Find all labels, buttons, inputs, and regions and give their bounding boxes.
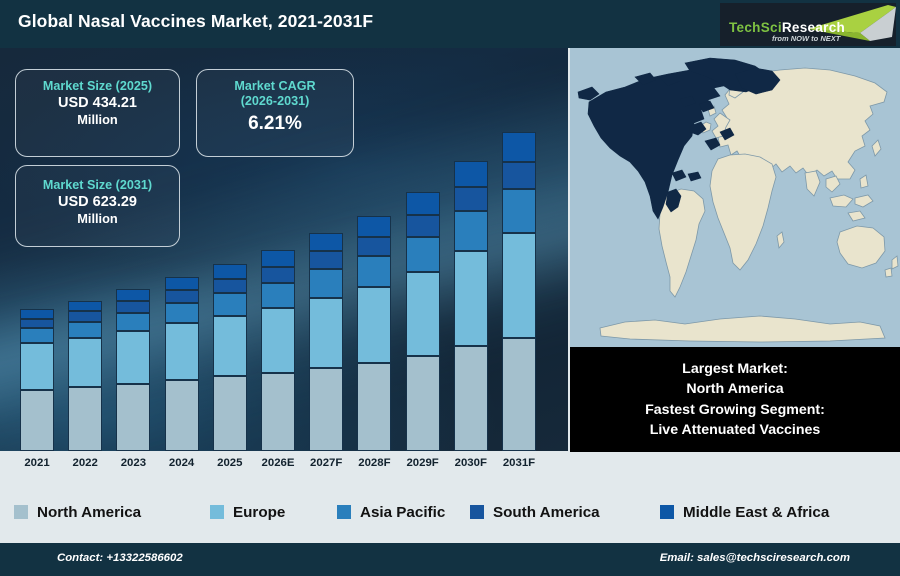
bar-segment-asia-pacific	[213, 293, 247, 316]
bar-segment-south-america	[502, 162, 536, 188]
market-cagr-period: (2026-2031)	[197, 94, 353, 109]
bar-2030F	[454, 161, 488, 451]
bar-segment-north-america	[502, 338, 536, 451]
world-map-svg	[570, 48, 900, 347]
bar-segment-europe	[357, 287, 391, 363]
bar-segment-middle-east-africa	[406, 192, 440, 215]
bar-segment-middle-east-africa	[20, 309, 54, 319]
bar-segment-south-america	[261, 267, 295, 283]
footer-contact: Contact: +13322586602	[57, 552, 183, 564]
bar-segment-europe	[68, 338, 102, 387]
bar-segment-north-america	[454, 346, 488, 451]
bar-segment-middle-east-africa	[357, 216, 391, 236]
bar-segment-south-america	[116, 301, 150, 313]
bar-segment-north-america	[309, 368, 343, 451]
bar-segment-asia-pacific	[357, 256, 391, 287]
bar-segment-europe	[116, 331, 150, 384]
bar-segment-europe	[20, 343, 54, 390]
logo-name-techsci: TechSci	[729, 20, 782, 35]
bar-segment-asia-pacific	[20, 328, 54, 342]
techsci-research-logo: TechSciResearch from NOW to NEXT	[720, 3, 896, 46]
bar-segment-asia-pacific	[309, 269, 343, 298]
x-tick-2031F: 2031F	[491, 457, 547, 469]
bar-segment-asia-pacific	[116, 313, 150, 331]
legend-label: South America	[493, 504, 600, 521]
bar-2026E	[261, 250, 295, 451]
market-size-2025-card: Market Size (2025) USD 434.21 Million	[15, 69, 180, 157]
bar-segment-north-america	[20, 390, 54, 451]
bar-segment-europe	[406, 272, 440, 356]
legend-swatch-icon	[14, 505, 28, 519]
bar-segment-south-america	[165, 290, 199, 303]
fastest-growing-segment-label: Fastest Growing Segment:	[645, 400, 825, 420]
bar-segment-middle-east-africa	[116, 289, 150, 301]
market-size-2025-value: USD 434.21	[16, 94, 179, 112]
bar-segment-south-america	[406, 215, 440, 237]
bar-segment-asia-pacific	[406, 237, 440, 272]
bar-segment-north-america	[165, 380, 199, 451]
legend-swatch-icon	[470, 505, 484, 519]
bar-2031F	[502, 132, 536, 451]
bar-segment-south-america	[454, 187, 488, 211]
bar-segment-south-america	[357, 237, 391, 256]
logo-tagline: from NOW to NEXT	[772, 34, 840, 43]
largest-market-value: North America	[686, 379, 783, 399]
bar-segment-middle-east-africa	[454, 161, 488, 187]
page-title: Global Nasal Vaccines Market, 2021-2031F	[18, 11, 373, 32]
bar-segment-south-america	[20, 319, 54, 329]
market-size-2025-label: Market Size (2025)	[16, 79, 179, 94]
bar-segment-north-america	[68, 387, 102, 451]
bar-segment-asia-pacific	[261, 283, 295, 308]
footer-bar: Contact: +13322586602 Email: sales@techs…	[0, 543, 900, 576]
bar-2021	[20, 309, 54, 451]
bar-2025	[213, 264, 247, 451]
bar-segment-asia-pacific	[454, 211, 488, 251]
footer-email: Email: sales@techsciresearch.com	[660, 552, 850, 564]
bar-segment-europe	[454, 251, 488, 346]
legend-label: Asia Pacific	[360, 504, 445, 521]
logo-wordmark: TechSciResearch	[729, 20, 845, 35]
header-bar: Global Nasal Vaccines Market, 2021-2031F…	[0, 0, 900, 48]
bar-segment-middle-east-africa	[68, 301, 102, 312]
market-cagr-value: 6.21%	[197, 112, 353, 136]
legend-swatch-icon	[210, 505, 224, 519]
bar-2029F	[406, 192, 440, 451]
logo-name-research: Research	[782, 20, 845, 35]
market-cagr-label: Market CAGR	[197, 79, 353, 94]
largest-market-label: Largest Market:	[682, 359, 788, 379]
bar-segment-south-america	[309, 251, 343, 269]
bar-segment-south-america	[68, 311, 102, 322]
market-size-2031-label: Market Size (2031)	[16, 178, 179, 193]
bar-segment-asia-pacific	[165, 303, 199, 323]
bar-segment-middle-east-africa	[261, 250, 295, 267]
legend-swatch-icon	[660, 505, 674, 519]
market-size-2031-value: USD 623.29	[16, 193, 179, 211]
legend-item-europe[interactable]: Europe	[210, 504, 285, 521]
bar-segment-asia-pacific	[68, 322, 102, 338]
bar-segment-europe	[502, 233, 536, 338]
bar-segment-north-america	[406, 356, 440, 451]
legend-swatch-icon	[337, 505, 351, 519]
bar-segment-asia-pacific	[502, 189, 536, 234]
bar-segment-north-america	[213, 376, 247, 451]
bar-segment-europe	[213, 316, 247, 376]
bar-segment-middle-east-africa	[309, 233, 343, 251]
bar-segment-europe	[165, 323, 199, 380]
legend-item-asia-pacific[interactable]: Asia Pacific	[337, 504, 445, 521]
x-axis-labels: 202120222023202420252026E2027F2028F2029F…	[0, 451, 568, 481]
bar-segment-south-america	[213, 279, 247, 293]
market-highlights-box: Largest Market: North America Fastest Gr…	[570, 347, 900, 452]
legend-item-south-america[interactable]: South America	[470, 504, 600, 521]
bar-2027F	[309, 233, 343, 451]
market-size-2031-card: Market Size (2031) USD 623.29 Million	[15, 165, 180, 247]
bar-2022	[68, 301, 102, 451]
bar-2024	[165, 277, 199, 452]
bar-segment-europe	[261, 308, 295, 373]
legend-label: Europe	[233, 504, 285, 521]
legend-item-north-america[interactable]: North America	[14, 504, 141, 521]
bar-segment-north-america	[261, 373, 295, 451]
legend-item-middle-east-africa[interactable]: Middle East & Africa	[660, 504, 829, 521]
infographic-root: Global Nasal Vaccines Market, 2021-2031F…	[0, 0, 900, 576]
market-size-2025-unit: Million	[16, 112, 179, 128]
legend-label: Middle East & Africa	[683, 504, 829, 521]
bar-segment-north-america	[116, 384, 150, 451]
market-cagr-card: Market CAGR (2026-2031) 6.21%	[196, 69, 354, 157]
bar-2023	[116, 289, 150, 451]
bar-2028F	[357, 216, 391, 451]
bar-segment-middle-east-africa	[213, 264, 247, 278]
bar-segment-middle-east-africa	[502, 132, 536, 162]
market-size-2031-unit: Million	[16, 211, 179, 227]
chart-legend: North AmericaEuropeAsia PacificSouth Ame…	[0, 481, 900, 543]
world-map	[570, 48, 900, 347]
legend-label: North America	[37, 504, 141, 521]
fastest-growing-segment-value: Live Attenuated Vaccines	[650, 420, 821, 440]
bar-segment-europe	[309, 298, 343, 368]
bar-segment-north-america	[357, 363, 391, 451]
bar-segment-middle-east-africa	[165, 277, 199, 290]
